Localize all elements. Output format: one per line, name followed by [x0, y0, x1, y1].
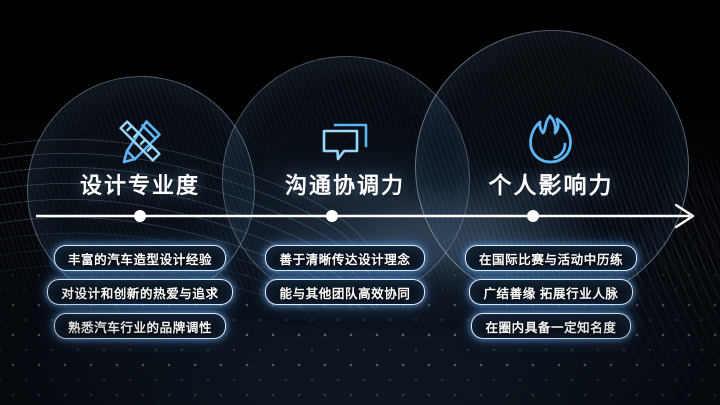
pen-ruler-icon-wrap: [26, 112, 254, 170]
pill-item[interactable]: 丰富的汽车造型设计经验: [54, 245, 226, 271]
flame-icon-wrap: [420, 108, 682, 170]
pill-item[interactable]: 在圈内具备一定知名度: [471, 313, 630, 339]
column-heading: 个人影响力: [420, 166, 682, 200]
pill-item[interactable]: 广结善缘 拓展行业人脉: [469, 279, 632, 305]
flame-icon: [524, 111, 578, 167]
slide-canvas: 设计专业度 丰富的汽车造型设计经验 对设计和创新的热爱与追求 熟悉汽车行业的品牌…: [0, 0, 720, 405]
pill-list: 在国际比赛与活动中历练 广结善缘 拓展行业人脉 在圈内具备一定知名度: [420, 245, 682, 339]
column-heading: 设计专业度: [26, 168, 254, 200]
pill-item[interactable]: 善于清晰传达设计理念: [265, 245, 424, 271]
pen-ruler-icon: [114, 115, 166, 167]
pill-item[interactable]: 在国际比赛与活动中历练: [465, 245, 637, 271]
pill-item[interactable]: 对设计和创新的热爱与追求: [47, 279, 232, 305]
pill-list: 丰富的汽车造型设计经验 对设计和创新的热爱与追求 熟悉汽车行业的品牌调性: [26, 245, 254, 339]
chat-bubbles-icon: [319, 116, 371, 166]
pill-item[interactable]: 能与其他团队高效协同: [265, 279, 424, 305]
pill-item[interactable]: 熟悉汽车行业的品牌调性: [54, 313, 226, 339]
column-design-expertise: 设计专业度 丰富的汽车造型设计经验 对设计和创新的热爱与追求 熟悉汽车行业的品牌…: [26, 0, 254, 405]
column-personal-influence: 个人影响力 在国际比赛与活动中历练 广结善缘 拓展行业人脉 在圈内具备一定知名度: [420, 0, 682, 405]
